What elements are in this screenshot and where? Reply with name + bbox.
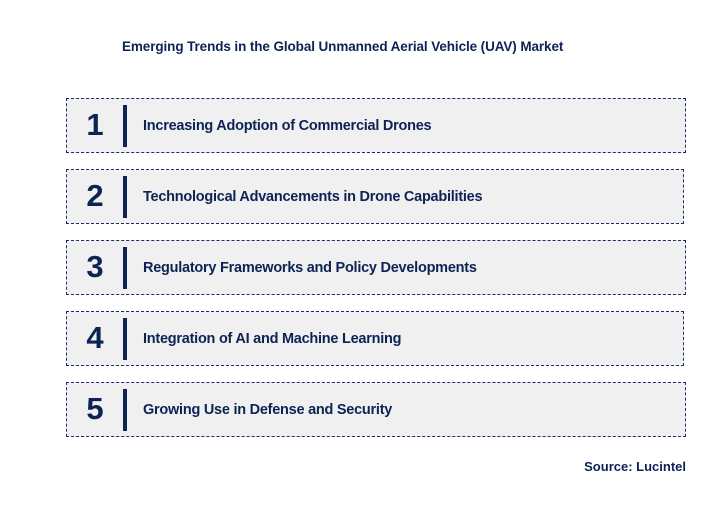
- trend-list: 1 Increasing Adoption of Commercial Dron…: [66, 98, 686, 453]
- list-item: 5 Growing Use in Defense and Security: [66, 382, 686, 437]
- trend-label: Growing Use in Defense and Security: [127, 402, 392, 418]
- trend-rank-number: 4: [67, 322, 123, 355]
- trend-rank-number: 5: [67, 393, 123, 426]
- list-item: 4 Integration of AI and Machine Learning: [66, 311, 684, 366]
- trend-rank-number: 1: [67, 109, 123, 142]
- trend-rank-number: 3: [67, 251, 123, 284]
- infographic-canvas: Emerging Trends in the Global Unmanned A…: [0, 0, 712, 521]
- trend-label: Increasing Adoption of Commercial Drones: [127, 118, 431, 134]
- trend-label: Regulatory Frameworks and Policy Develop…: [127, 260, 477, 276]
- trend-label: Integration of AI and Machine Learning: [127, 331, 401, 347]
- list-item: 1 Increasing Adoption of Commercial Dron…: [66, 98, 686, 153]
- trend-label: Technological Advancements in Drone Capa…: [127, 189, 482, 205]
- page-title: Emerging Trends in the Global Unmanned A…: [122, 39, 563, 54]
- list-item: 3 Regulatory Frameworks and Policy Devel…: [66, 240, 686, 295]
- trend-rank-number: 2: [67, 180, 123, 213]
- source-attribution: Source: Lucintel: [584, 459, 686, 474]
- list-item: 2 Technological Advancements in Drone Ca…: [66, 169, 684, 224]
